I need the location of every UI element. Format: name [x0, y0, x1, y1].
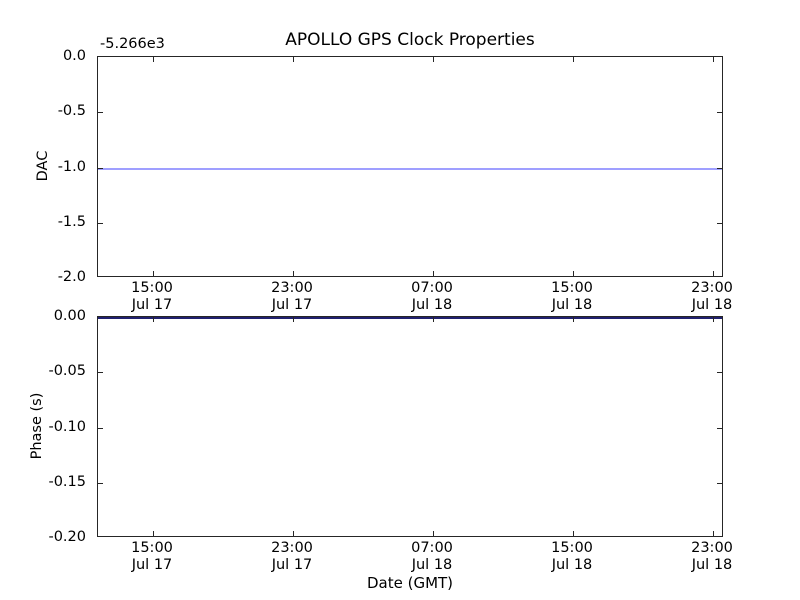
- phase-x-tick-mark: [433, 531, 434, 536]
- phase-y-tick-label: -0.05: [48, 363, 92, 379]
- dac-x-tick-date: Jul 17: [131, 297, 173, 314]
- dac-y-tick-text: -1.5: [58, 214, 92, 230]
- phase-x-tick-label: 15:00 Jul 18: [551, 540, 593, 574]
- dac-x-tick-date: Jul 18: [551, 297, 593, 314]
- phase-y-tick-text: -0.10: [48, 419, 92, 435]
- dac-x-tick-mark: [713, 271, 714, 276]
- phase-y-tick-label: -0.20: [48, 529, 92, 545]
- dac-x-tick-mark-top: [713, 57, 714, 62]
- phase-plot-area: [98, 317, 722, 536]
- phase-x-tick-time: 23:00: [271, 540, 313, 557]
- phase-y-tick-text: -0.15: [48, 474, 92, 490]
- dac-x-tick-mark-top: [433, 57, 434, 62]
- dac-x-tick-date: Jul 17: [271, 297, 313, 314]
- phase-y-tick-mark-right: [717, 483, 722, 484]
- dac-x-tick-mark: [573, 271, 574, 276]
- dac-y-tick-label: -0.5: [58, 103, 92, 119]
- dac-x-tick-mark-top: [153, 57, 154, 62]
- dac-x-tick-time: 07:00: [411, 280, 453, 297]
- figure-canvas: APOLLO GPS Clock Properties -5.266e3 DAC…: [0, 0, 800, 600]
- phase-x-tick-label: 07:00 Jul 18: [411, 540, 453, 574]
- dac-x-tick-label: 15:00 Jul 18: [551, 280, 593, 314]
- phase-x-tick-mark-top: [293, 317, 294, 322]
- phase-x-tick-mark-top: [433, 317, 434, 322]
- dac-series-line: [98, 168, 722, 170]
- phase-x-tick-time: 15:00: [551, 540, 593, 557]
- dac-y-tick-mark: [98, 112, 103, 113]
- phase-y-tick-label: -0.15: [48, 474, 92, 490]
- dac-x-tick-mark: [293, 271, 294, 276]
- phase-y-tick-mark: [98, 428, 103, 429]
- phase-y-tick-text: -0.05: [48, 363, 92, 379]
- dac-y-tick-mark: [98, 168, 103, 169]
- dac-x-tick-time: 15:00: [131, 280, 173, 297]
- dac-x-tick-time: 23:00: [691, 280, 733, 297]
- phase-x-tick-mark-top: [573, 317, 574, 322]
- phase-x-tick-time: 07:00: [411, 540, 453, 557]
- phase-series-line: [98, 317, 722, 319]
- phase-x-tick-date: Jul 17: [131, 557, 173, 574]
- dac-y-tick-label: -1.0: [58, 159, 92, 175]
- phase-y-tick-label: 0.00: [54, 308, 92, 324]
- phase-x-tick-time: 15:00: [131, 540, 173, 557]
- phase-x-tick-date: Jul 18: [551, 557, 593, 574]
- dac-x-tick-mark-top: [573, 57, 574, 62]
- dac-y-tick-text: -0.5: [58, 103, 92, 119]
- dac-y-tick-label-group: 0.0 -0.5 -1.0 -1.5 -2.0: [2, 56, 92, 277]
- dac-x-tick-label: 07:00 Jul 18: [411, 280, 453, 314]
- phase-y-tick-mark: [98, 483, 103, 484]
- phase-y-tick-text: 0.00: [54, 308, 92, 324]
- phase-x-tick-mark: [573, 531, 574, 536]
- phase-x-tick-date: Jul 18: [411, 557, 453, 574]
- dac-x-tick-date: Jul 18: [691, 297, 733, 314]
- dac-y-tick-label: -1.5: [58, 214, 92, 230]
- dac-x-tick-time: 23:00: [271, 280, 313, 297]
- phase-y-tick-mark-right: [717, 372, 722, 373]
- dac-x-tick-label: 23:00 Jul 17: [271, 280, 313, 314]
- dac-y-tick-text: -1.0: [58, 159, 92, 175]
- phase-y-tick-mark: [98, 372, 103, 373]
- phase-y-tick-label-group: 0.00 -0.05 -0.10 -0.15 -0.20: [2, 316, 92, 537]
- phase-x-tick-mark: [153, 531, 154, 536]
- dac-y-tick-text: -2.0: [58, 269, 92, 285]
- dac-plot-area: [98, 57, 722, 276]
- dac-x-tick-mark-top: [293, 57, 294, 62]
- phase-y-tick-text: -0.20: [48, 529, 92, 545]
- dac-y-tick-mark-right: [717, 112, 722, 113]
- phase-x-tick-mark: [293, 531, 294, 536]
- phase-y-tick-label: -0.10: [48, 419, 92, 435]
- dac-y-tick-mark-right: [717, 168, 722, 169]
- dac-x-tick-mark: [153, 271, 154, 276]
- x-axis-label: Date (GMT): [97, 574, 723, 592]
- dac-plot-axes: [97, 56, 723, 277]
- dac-y-tick-text: 0.0: [63, 48, 92, 64]
- dac-x-tick-time: 15:00: [551, 280, 593, 297]
- dac-y-tick-mark: [98, 223, 103, 224]
- dac-axis-offset-label: -5.266e3: [100, 36, 165, 52]
- dac-x-tick-label: 23:00 Jul 18: [691, 280, 733, 314]
- phase-x-tick-mark-top: [713, 317, 714, 322]
- dac-x-tick-date: Jul 18: [411, 297, 453, 314]
- phase-x-tick-mark-top: [153, 317, 154, 322]
- phase-x-tick-label: 23:00 Jul 17: [271, 540, 313, 574]
- phase-plot-axes: [97, 316, 723, 537]
- dac-y-tick-label: 0.0: [63, 48, 92, 64]
- phase-y-tick-mark-right: [717, 428, 722, 429]
- dac-y-tick-label: -2.0: [58, 269, 92, 285]
- dac-x-tick-mark: [433, 271, 434, 276]
- chart-title: APOLLO GPS Clock Properties: [97, 30, 723, 50]
- phase-x-tick-label: 15:00 Jul 17: [131, 540, 173, 574]
- phase-x-tick-label: 23:00 Jul 18: [691, 540, 733, 574]
- dac-x-tick-label: 15:00 Jul 17: [131, 280, 173, 314]
- phase-x-tick-date: Jul 17: [271, 557, 313, 574]
- phase-x-tick-time: 23:00: [691, 540, 733, 557]
- dac-y-tick-mark-right: [717, 223, 722, 224]
- phase-x-tick-date: Jul 18: [691, 557, 733, 574]
- phase-x-tick-mark: [713, 531, 714, 536]
